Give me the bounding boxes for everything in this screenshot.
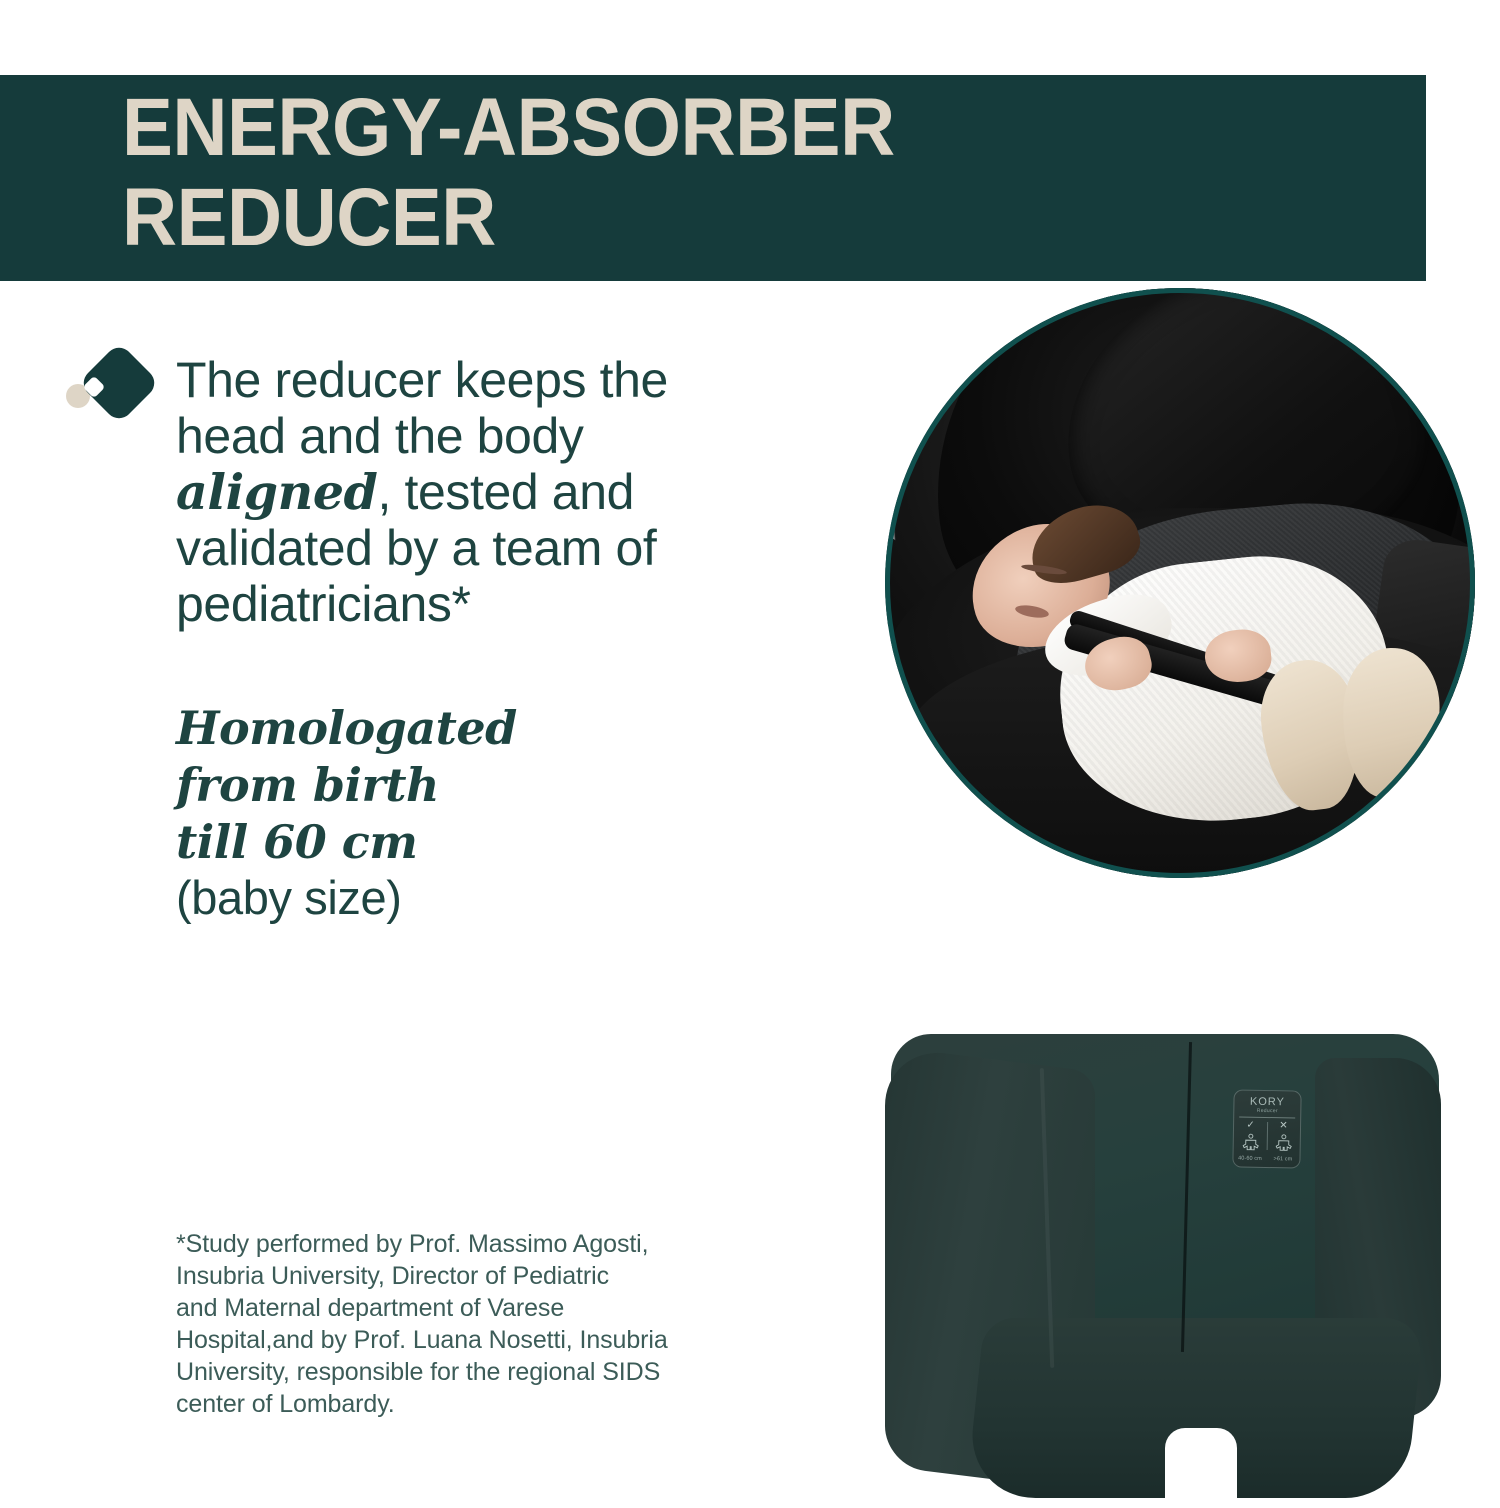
reducer-crotch-notch (1165, 1428, 1237, 1508)
header-banner: ENERGY-ABSORBER REDUCER (0, 75, 1426, 281)
photo-clip (885, 288, 1475, 878)
bullet-text-emphasis: aligned (176, 463, 378, 521)
baby-figure-icon-forbidden (1274, 1132, 1292, 1152)
diamond-bullet-icon (62, 352, 172, 430)
label-subtitle: Reducer (1234, 1107, 1300, 1114)
cross-icon: ✕ (1267, 1120, 1300, 1132)
bullet-text-before: The reducer keeps the head and the body (176, 352, 668, 464)
page-title: ENERGY-ABSORBER REDUCER (122, 69, 1312, 263)
check-icon: ✓ (1234, 1119, 1267, 1131)
label-forbidden-column: ✕ >61 cm (1266, 1120, 1300, 1163)
reducer-insert-photo: KORY Reducer ✓ 40-60 cm ✕ >61 cm (885, 1028, 1445, 1488)
homologation-headline: Homologated from birth till 60 cm (176, 700, 736, 871)
label-forbidden-size: >61 cm (1266, 1156, 1299, 1163)
baby-in-car-seat-photo (885, 288, 1475, 878)
label-divider (1239, 1117, 1295, 1119)
baby-figure-icon-allowed (1241, 1132, 1259, 1152)
label-brand: KORY (1234, 1095, 1300, 1108)
study-footnote: *Study performed by Prof. Massimo Agosti… (176, 1228, 736, 1420)
product-care-label: KORY Reducer ✓ 40-60 cm ✕ >61 cm (1232, 1089, 1301, 1168)
label-allowed-size: 40-60 cm (1233, 1155, 1266, 1162)
homologation-subnote: (baby size) (176, 872, 401, 924)
bullet-paragraph: The reducer keeps the head and the body … (176, 352, 736, 632)
label-allowed-column: ✓ 40-60 cm (1233, 1119, 1267, 1162)
car-seat-scene (885, 288, 1475, 878)
infographic-canvas: ENERGY-ABSORBER REDUCER The reducer keep… (0, 0, 1500, 1500)
